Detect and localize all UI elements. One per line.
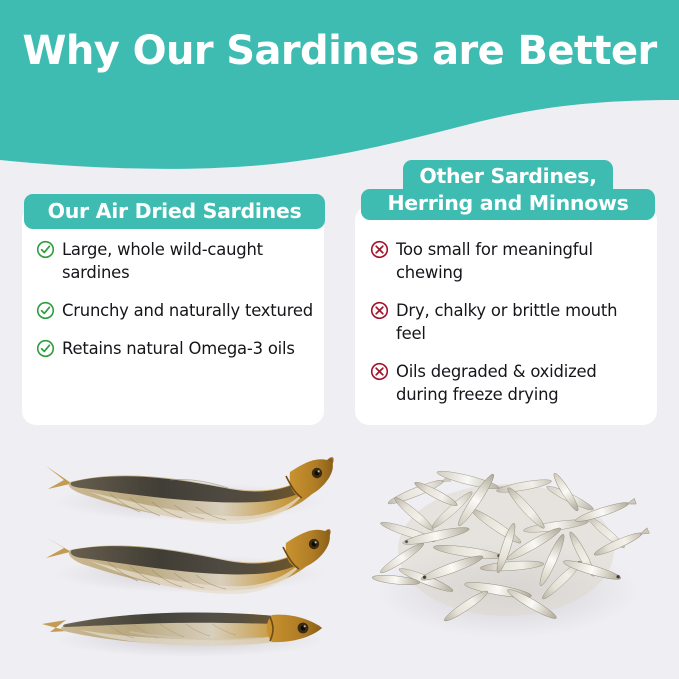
badge-our-air-dried-sardines: Our Air Dried Sardines bbox=[24, 194, 325, 229]
infographic-root: Why Our Sardines are Better Our Air Drie… bbox=[0, 0, 679, 679]
badge-line-1: Other Sardines, bbox=[403, 160, 612, 190]
benefit-list: Large, whole wild-caught sardines Crunch… bbox=[36, 238, 314, 375]
list-item: Crunchy and naturally textured bbox=[36, 299, 314, 322]
list-item: Too small for meaningful chewing bbox=[370, 238, 648, 284]
x-circle-icon bbox=[370, 362, 389, 381]
list-item: Oils degraded & oxidized during freeze d… bbox=[370, 360, 648, 406]
list-item-label: Crunchy and naturally textured bbox=[62, 299, 313, 322]
x-circle-icon bbox=[370, 301, 389, 320]
photo-whole-air-dried-sardines bbox=[20, 432, 350, 658]
badge-other-sardines-herring-minnows: Other Sardines, Herring and Minnows bbox=[361, 160, 655, 220]
list-item-label: Dry, chalky or brittle mouth feel bbox=[396, 299, 648, 345]
page-title: Why Our Sardines are Better bbox=[0, 28, 679, 74]
list-item-label: Large, whole wild-caught sardines bbox=[62, 238, 314, 284]
list-item: Retains natural Omega-3 oils bbox=[36, 337, 314, 360]
x-circle-icon bbox=[370, 240, 389, 259]
list-item-label: Too small for meaningful chewing bbox=[396, 238, 648, 284]
badge-line-2: Herring and Minnows bbox=[361, 189, 655, 220]
list-item-label: Retains natural Omega-3 oils bbox=[62, 337, 295, 360]
list-item: Dry, chalky or brittle mouth feel bbox=[370, 299, 648, 345]
list-item: Large, whole wild-caught sardines bbox=[36, 238, 314, 284]
drawback-list: Too small for meaningful chewing Dry, ch… bbox=[370, 238, 648, 421]
check-circle-icon bbox=[36, 301, 55, 320]
check-circle-icon bbox=[36, 240, 55, 259]
photo-pile-of-dried-minnows bbox=[356, 440, 666, 654]
check-circle-icon bbox=[36, 339, 55, 358]
list-item-label: Oils degraded & oxidized during freeze d… bbox=[396, 360, 648, 406]
